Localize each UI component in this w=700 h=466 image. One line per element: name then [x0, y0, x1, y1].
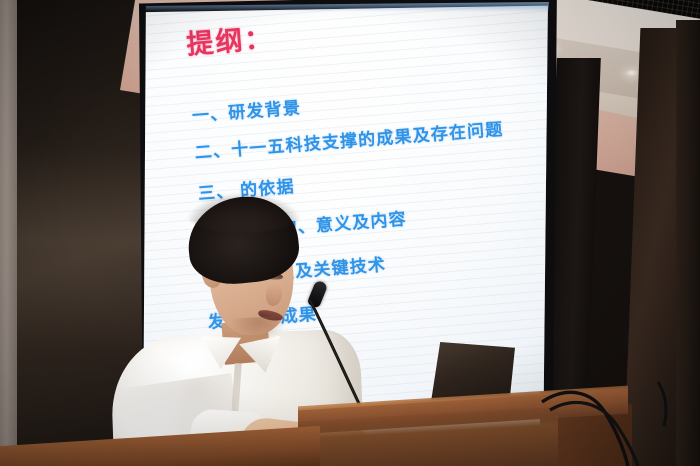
presentation-photo-scene: 提纲： 一、研发背景 二、十一五科技支撑的成果及存在问题 三、 的依据 四、 的…: [0, 0, 700, 466]
cables: [540, 380, 690, 466]
speaker-hair-wisp: [186, 193, 302, 233]
left-wall-light-strip: [0, 0, 18, 466]
speaker-chin-shadow: [229, 315, 289, 343]
